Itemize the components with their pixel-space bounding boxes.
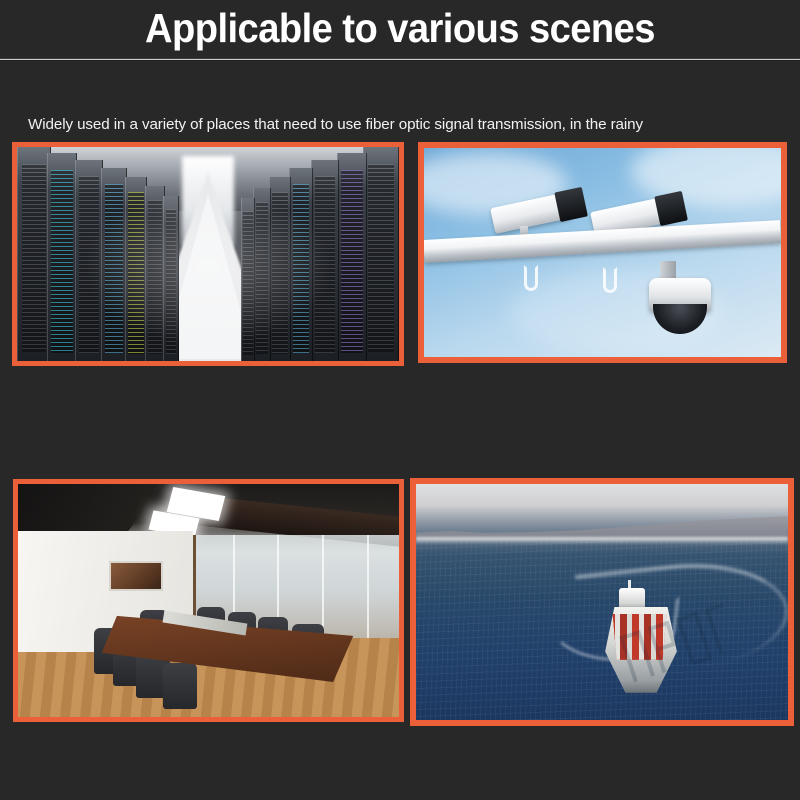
photo-frame [13,479,404,722]
scene-grid: Electronic Equipment Surveillance Camera [0,140,800,800]
scene-card-electronic-equipment[interactable] [12,142,404,366]
cctv-cameras-on-pole-photo [424,148,781,357]
photo-frame [418,142,787,363]
photo-frame [410,478,794,726]
scene-card-surveillance-camera[interactable] [418,142,787,363]
photo-frame [12,142,404,366]
conference-room-meeting-table-photo [18,484,399,717]
intro-line-1: Widely used in a variety of places that … [28,114,800,136]
title-divider [0,58,800,61]
scene-card-corporate-office[interactable] [13,479,404,722]
page-title: Applicable to various scenes [28,2,772,54]
data-center-server-racks-photo [17,147,399,361]
container-ship-at-sea-photo [416,484,788,720]
dome-camera-icon [649,278,711,312]
scene-card-navigation-and-aviation[interactable] [410,478,794,726]
